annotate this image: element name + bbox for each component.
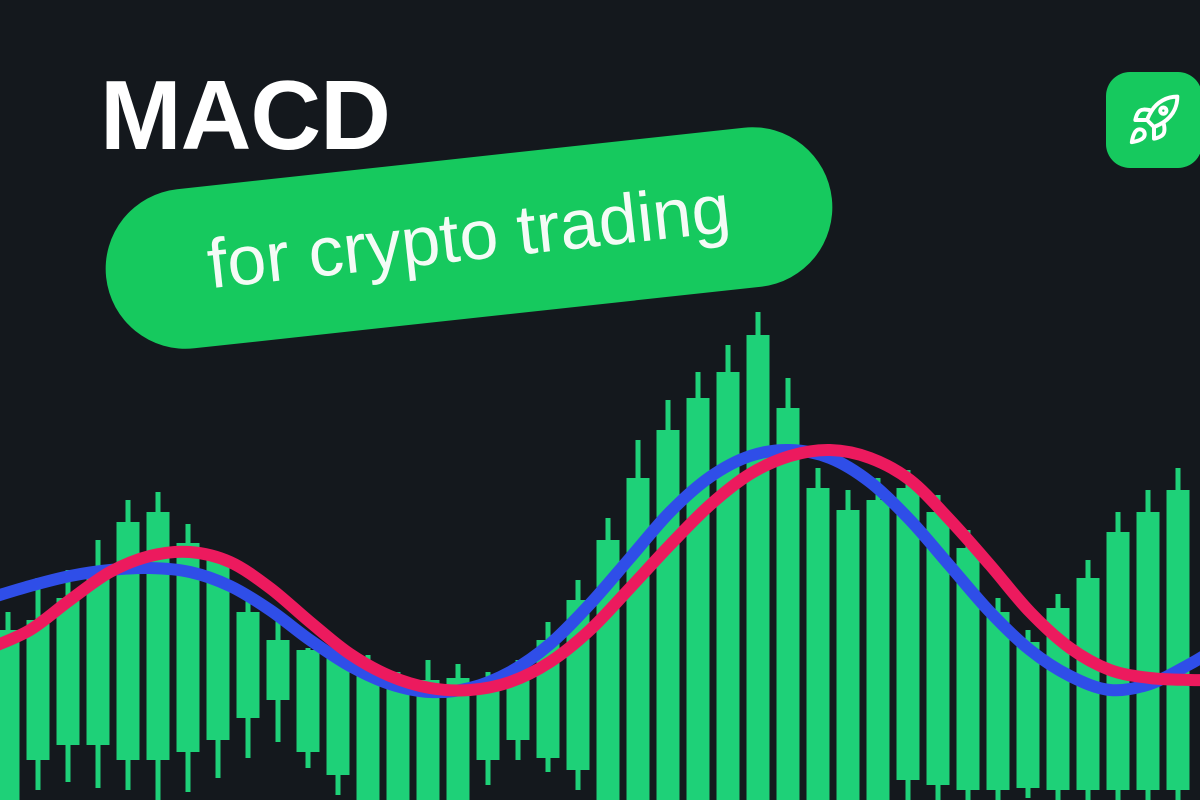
candlestick bbox=[1137, 490, 1160, 800]
candle-body bbox=[0, 630, 20, 800]
candle-body bbox=[327, 658, 350, 775]
rocket-icon bbox=[1126, 92, 1182, 148]
candle-body bbox=[627, 478, 650, 800]
candle-body bbox=[747, 335, 770, 800]
candle-body bbox=[807, 488, 830, 800]
candlestick bbox=[267, 620, 290, 742]
candlestick bbox=[867, 478, 890, 800]
candle-body bbox=[267, 640, 290, 700]
candlestick bbox=[1107, 512, 1130, 800]
candle-body bbox=[87, 570, 110, 745]
candlestick bbox=[1167, 468, 1190, 800]
candle-body bbox=[657, 430, 680, 800]
candle-body bbox=[1137, 512, 1160, 790]
candle-body bbox=[687, 398, 710, 800]
candle-body bbox=[387, 680, 410, 800]
rocket-logo-tile[interactable] bbox=[1106, 72, 1200, 168]
candle-body bbox=[1107, 532, 1130, 790]
candlestick bbox=[597, 518, 620, 800]
candlestick bbox=[807, 468, 830, 800]
candle-body bbox=[357, 672, 380, 800]
candle-body bbox=[57, 598, 80, 745]
candlestick bbox=[627, 440, 650, 800]
candle-body bbox=[867, 500, 890, 800]
candlestick bbox=[237, 592, 260, 758]
candle-body bbox=[237, 612, 260, 718]
candle-body bbox=[297, 650, 320, 752]
candle-body bbox=[837, 510, 860, 800]
subtitle-badge-label: for crypto trading bbox=[203, 168, 734, 308]
candlestick bbox=[147, 492, 170, 800]
poster-canvas: MACD for crypto trading bbox=[0, 0, 1200, 800]
candlestick bbox=[687, 372, 710, 800]
candle-body bbox=[987, 612, 1010, 790]
page-title: MACD bbox=[100, 66, 390, 164]
candle-body bbox=[1167, 490, 1190, 790]
candlestick bbox=[777, 378, 800, 800]
candle-body bbox=[27, 620, 50, 760]
candlestick bbox=[297, 648, 320, 768]
candlestick bbox=[27, 578, 50, 790]
candle-body bbox=[1017, 642, 1040, 788]
candle-body bbox=[717, 372, 740, 800]
candle-body bbox=[777, 408, 800, 800]
candlestick bbox=[117, 500, 140, 790]
candlestick bbox=[837, 490, 860, 800]
candlestick bbox=[657, 400, 680, 800]
candlestick bbox=[747, 312, 770, 800]
candlestick bbox=[717, 345, 740, 800]
